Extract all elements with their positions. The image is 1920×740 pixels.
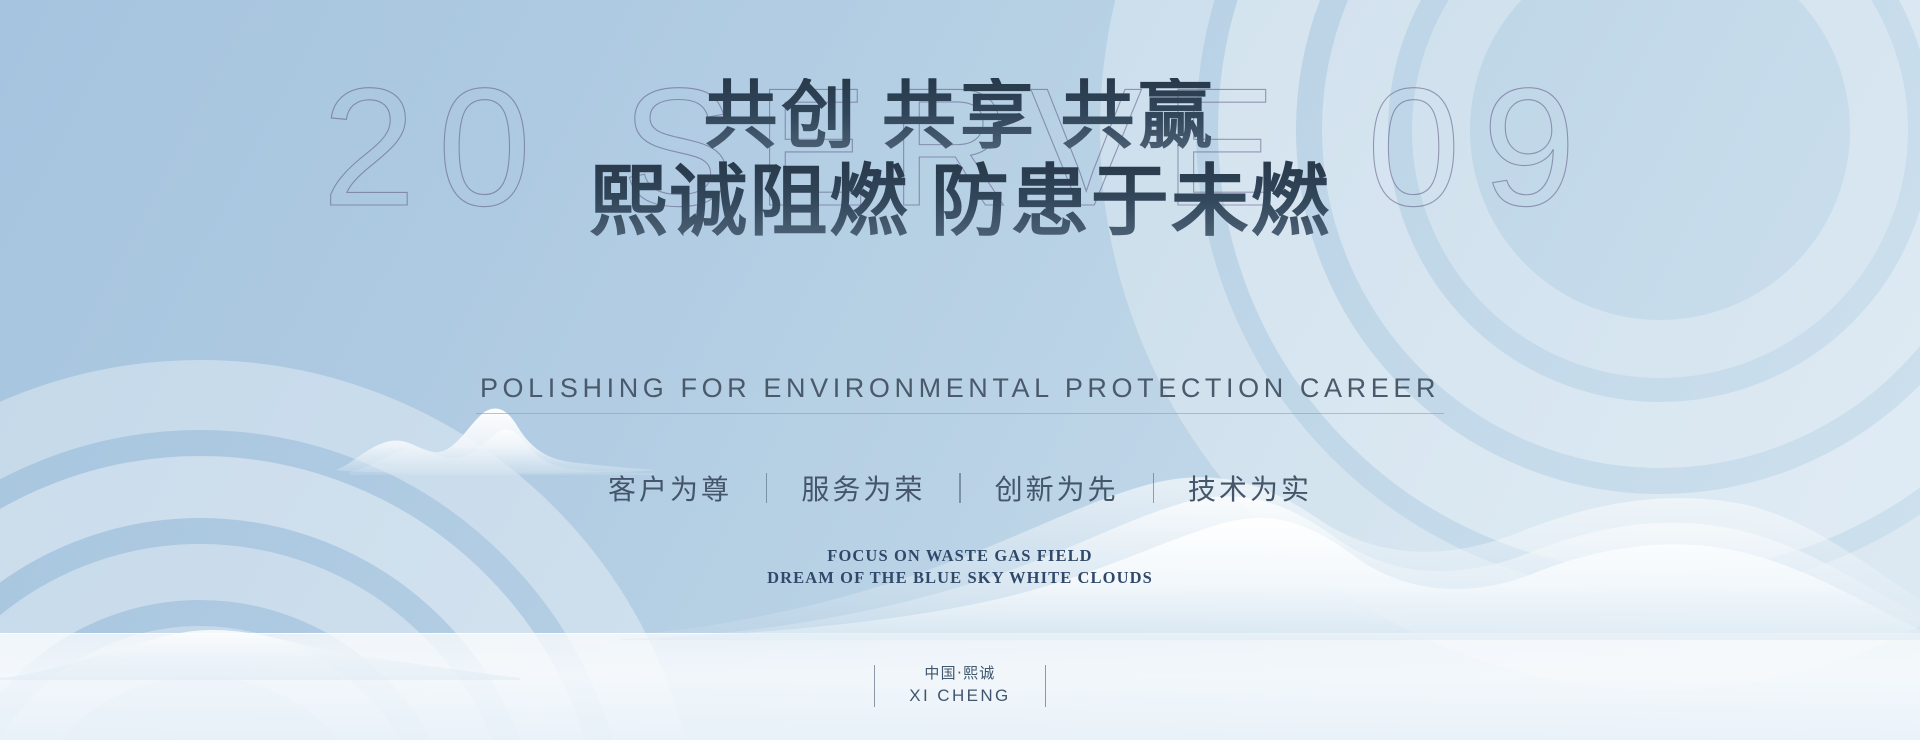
english-tagline: POLISHING FOR ENVIRONMENTAL PROTECTION C…: [476, 373, 1444, 414]
value-item-2: 服务为荣: [767, 468, 959, 508]
couplet-line-1: FOCUS ON WASTE GAS FIELD: [0, 545, 1920, 567]
headline-line-2: 熙诚阻燃 防患于未燃: [0, 160, 1920, 244]
badge-label-cn: 中国·熙诚: [909, 663, 1010, 685]
core-values-row: 客户为尊 服务为荣 创新为先 技术为实: [0, 468, 1920, 508]
value-item-1: 客户为尊: [574, 468, 766, 508]
badge-bar-left: [874, 665, 875, 707]
brand-badge: 中国·熙诚 XI CHENG: [0, 663, 1920, 708]
couplet-line-2: DREAM OF THE BLUE SKY WHITE CLOUDS: [0, 567, 1920, 589]
badge-bar-right: [1045, 665, 1046, 707]
serif-couplet-block: FOCUS ON WASTE GAS FIELD DREAM OF THE BL…: [0, 545, 1920, 589]
badge-text-block: 中国·熙诚 XI CHENG: [909, 663, 1010, 708]
headline-line-1: 共创 共享 共赢: [0, 78, 1920, 158]
value-item-3: 创新为先: [961, 468, 1153, 508]
headline-block: 共创 共享 共赢 熙诚阻燃 防患于未燃: [0, 78, 1920, 244]
tagline-wrapper: POLISHING FOR ENVIRONMENTAL PROTECTION C…: [0, 373, 1920, 414]
value-item-4: 技术为实: [1154, 468, 1346, 508]
badge-label-en: XI CHENG: [909, 685, 1010, 708]
promotional-banner: 20 SERVE 09 共创 共享 共赢 熙诚阻燃 防患于未燃 POLISHIN…: [0, 0, 1920, 740]
